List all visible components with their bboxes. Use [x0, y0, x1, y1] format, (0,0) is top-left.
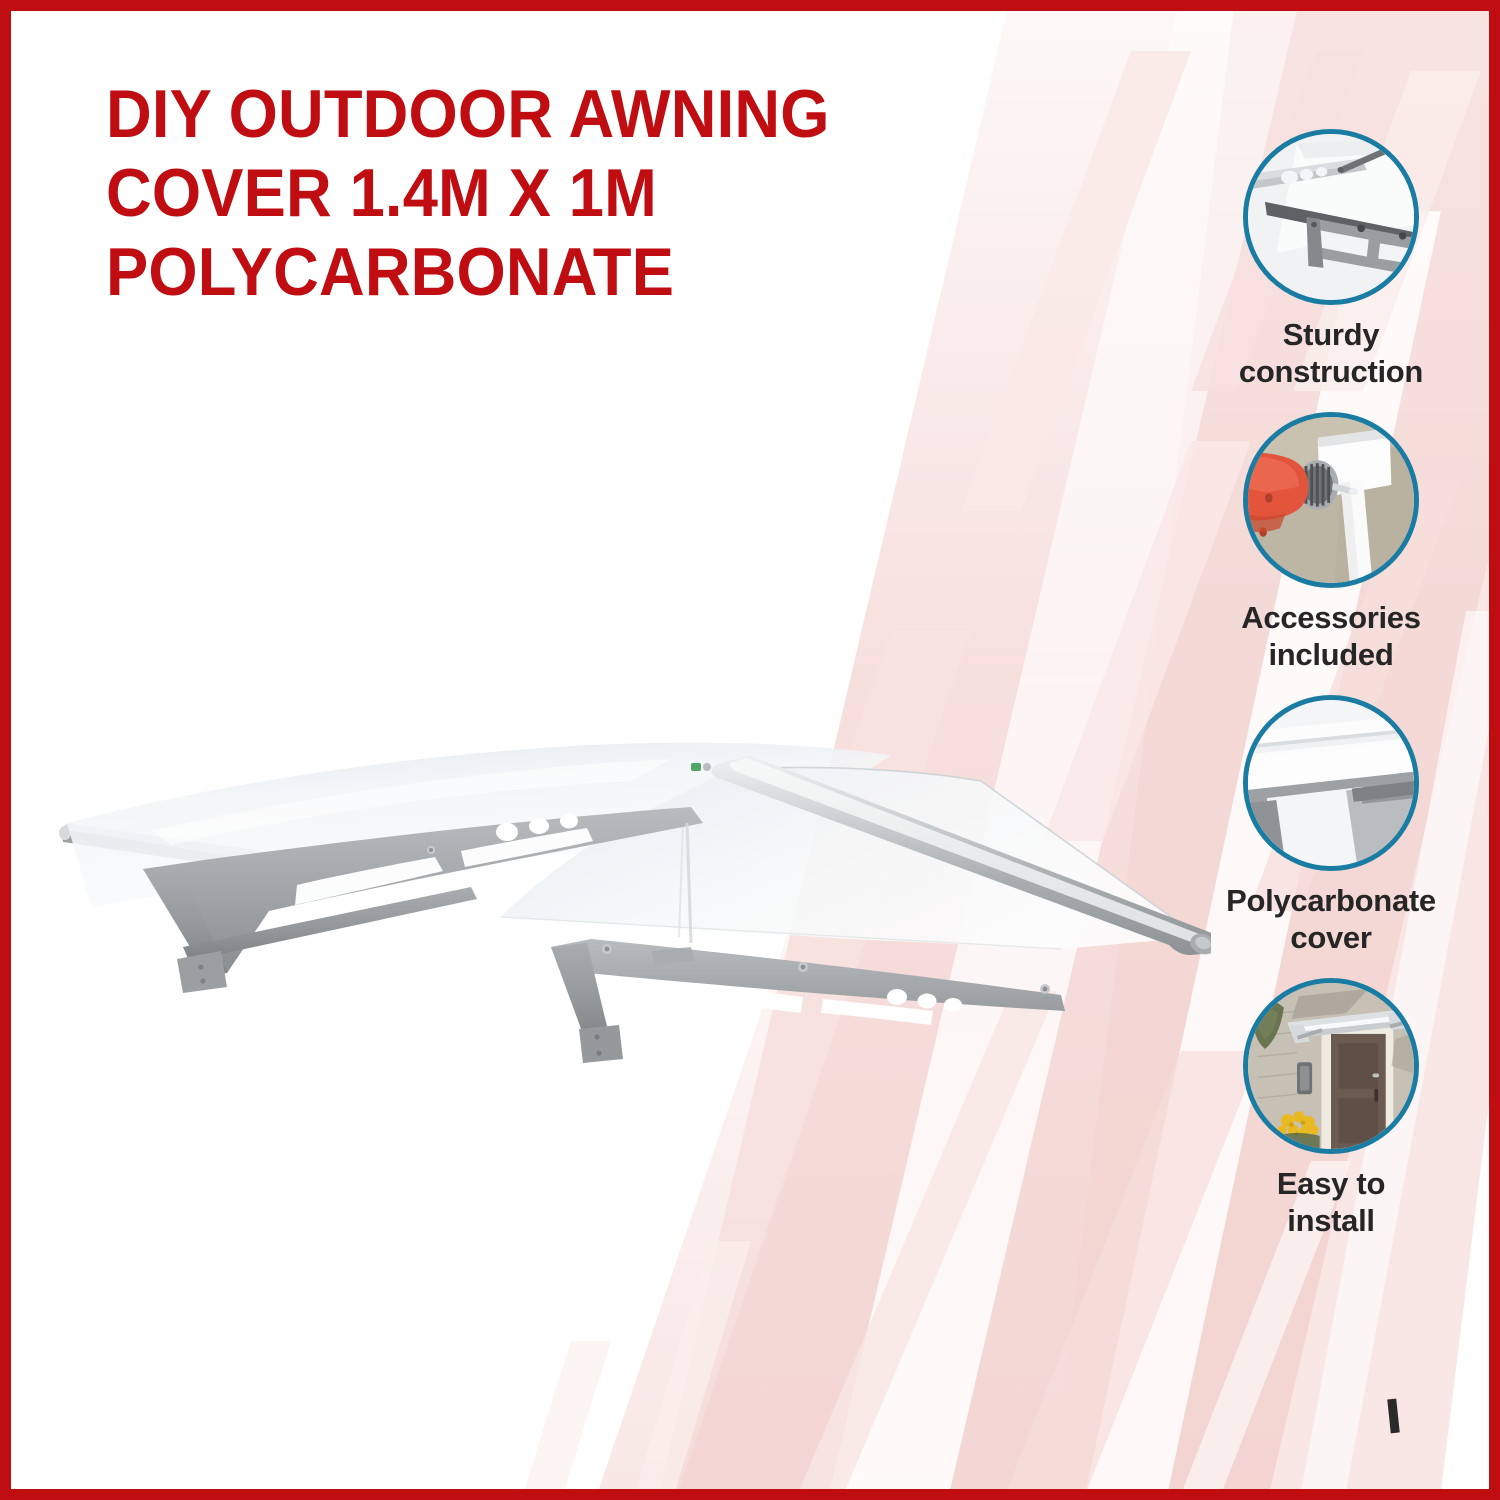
product-image [31, 711, 1211, 1091]
label-line-1: Polycarbonate [1226, 883, 1436, 918]
awning-installed-over-door-photo [1248, 983, 1414, 1149]
right-support-arm [551, 939, 1065, 1063]
feature-polycarbonate-cover-label: Polycarbonate cover [1226, 883, 1436, 956]
feature-sturdy-construction: Sturdy construction [1197, 129, 1465, 390]
label-line-2: construction [1239, 354, 1423, 389]
feature-list: Sturdy construction [1197, 129, 1465, 1262]
awning-bracket-closeup-photo [1248, 134, 1414, 300]
label-line-1: Accessories [1241, 600, 1420, 635]
awning-illustration [31, 711, 1211, 1091]
accessories-included-image [1243, 412, 1419, 588]
feature-polycarbonate-cover: Polycarbonate cover [1197, 695, 1465, 956]
page-title: DIY OUTDOOR AWNING COVER 1.4M X 1M POLYC… [106, 75, 887, 312]
label-line-2: included [1268, 637, 1393, 672]
title-line-2: COVER 1.4M X 1M [106, 155, 657, 231]
feature-accessories-included: Accessories included [1197, 412, 1465, 673]
title-line-1: DIY OUTDOOR AWNING [106, 76, 830, 152]
poster-frame: DIY OUTDOOR AWNING COVER 1.4M X 1M POLYC… [0, 0, 1500, 1500]
feature-easy-to-install-label: Easy to install [1277, 1166, 1385, 1239]
label-line-1: Easy to [1277, 1166, 1385, 1201]
label-line-2: cover [1290, 920, 1371, 955]
feature-sturdy-construction-label: Sturdy construction [1239, 317, 1423, 390]
easy-to-install-image [1243, 978, 1419, 1154]
poster-canvas: DIY OUTDOOR AWNING COVER 1.4M X 1M POLYC… [11, 11, 1489, 1489]
polycarbonate-sheet-edge-photo [1248, 700, 1414, 866]
feature-easy-to-install: Easy to install [1197, 978, 1465, 1239]
polycarbonate-cover-image [1243, 695, 1419, 871]
sturdy-construction-image [1243, 129, 1419, 305]
drill-driving-screw-photo [1248, 417, 1414, 583]
label-line-1: Sturdy [1283, 317, 1379, 352]
feature-accessories-included-label: Accessories included [1241, 600, 1420, 673]
label-line-2: install [1287, 1203, 1374, 1238]
title-line-3: POLYCARBONATE [106, 234, 674, 310]
